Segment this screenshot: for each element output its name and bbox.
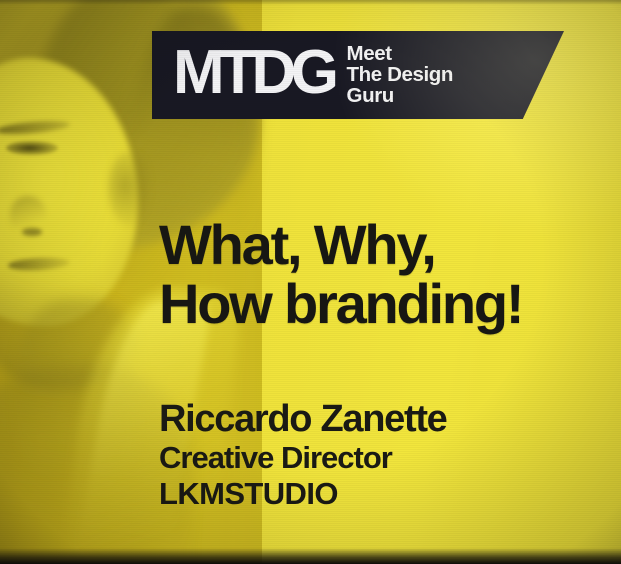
speaker-credits: Riccardo Zanette Creative Director LKMST… — [159, 399, 447, 511]
mtdg-wordmark: MTDG — [173, 48, 334, 99]
slide-headline: What, Why, How branding! — [159, 215, 522, 334]
portrait-eye — [6, 141, 58, 155]
mtdg-tagline: Meet The Design Guru — [347, 43, 454, 106]
speaker-organization: LKMSTUDIO — [159, 477, 447, 512]
speaker-name: Riccardo Zanette — [159, 399, 447, 440]
presentation-slide: MTDG Meet The Design Guru What, Why, How… — [0, 0, 621, 564]
logo-banner-content: MTDG Meet The Design Guru — [152, 44, 453, 106]
speaker-role: Creative Director — [159, 441, 447, 476]
mtdg-logo-banner: MTDG Meet The Design Guru — [152, 31, 564, 119]
portrait-ear — [108, 152, 150, 226]
